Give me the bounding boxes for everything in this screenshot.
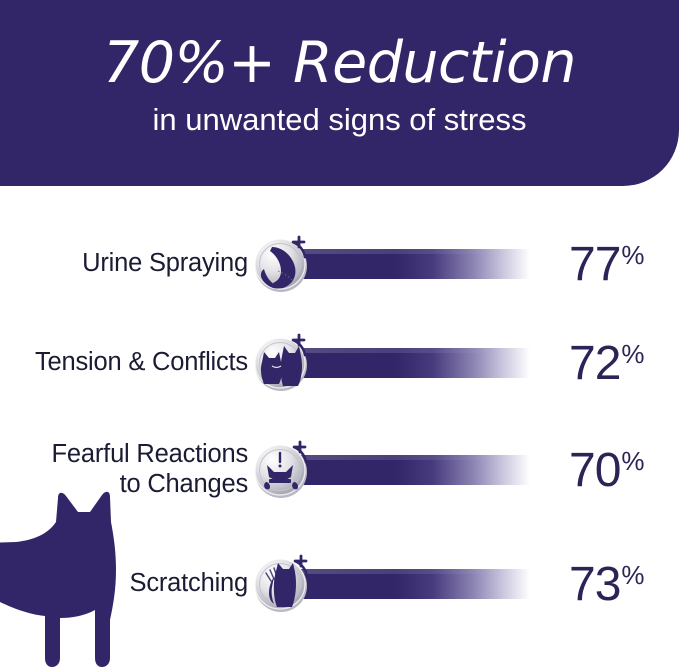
row-label-line1: Urine Spraying (82, 249, 248, 277)
chart-row-tension-conflicts: Tension & Conflicts (0, 331, 679, 395)
value-fearful-reactions: 70% (569, 443, 679, 498)
bar-track-fearful-reactions (298, 439, 565, 501)
header-text-block: 70%+ Reduction in unwanted signs of stre… (0, 34, 679, 138)
row-label-line1: Scratching (130, 569, 248, 597)
page-title: 70%+ Reduction (0, 34, 679, 94)
percent-symbol: % (621, 240, 644, 270)
row-label-fearful-reactions: Fearful Reactions to Changes (0, 440, 258, 499)
bar-track-scratching (298, 553, 565, 615)
fearful-cat-face-icon (252, 439, 314, 501)
row-label-urine-spraying: Urine Spraying (0, 249, 258, 279)
value-scratching: 73% (569, 557, 679, 612)
row-label-line1: Tension & Conflicts (35, 348, 248, 376)
percent-symbol: % (621, 339, 644, 369)
row-label-scratching: Scratching (0, 569, 258, 599)
bar-track-tension-conflicts (298, 332, 565, 394)
page-subtitle: in unwanted signs of stress (0, 102, 679, 138)
header-banner: 70%+ Reduction in unwanted signs of stre… (0, 0, 679, 186)
value-number: 77 (569, 238, 620, 291)
value-tension-conflicts: 72% (569, 336, 679, 391)
value-number: 72 (569, 337, 620, 390)
bar-track-urine-spraying (298, 233, 565, 295)
two-cats-tension-icon (252, 332, 314, 394)
percent-symbol: % (621, 446, 644, 476)
chart-row-urine-spraying: Urine Spraying (0, 232, 679, 296)
value-number: 70 (569, 444, 620, 497)
chart-row-scratching: Scratching (0, 552, 679, 616)
cat-scratching-icon (252, 553, 314, 615)
percent-symbol: % (621, 560, 644, 590)
bar-chart-rows: Urine Spraying (0, 186, 679, 667)
bar-fill-scratching (298, 569, 530, 599)
cat-urine-spraying-icon (252, 233, 314, 295)
value-urine-spraying: 77% (569, 237, 679, 292)
bar-fill-urine-spraying (298, 249, 530, 279)
infographic-root: 70%+ Reduction in unwanted signs of stre… (0, 0, 679, 667)
bar-fill-tension-conflicts (298, 348, 530, 378)
bar-fill-fearful-reactions (298, 455, 530, 485)
row-label-line2: to Changes (0, 470, 248, 500)
chart-row-fearful-reactions: Fearful Reactions to Changes (0, 438, 679, 502)
value-number: 73 (569, 558, 620, 611)
row-label-line1: Fearful Reactions (52, 440, 248, 468)
row-label-tension-conflicts: Tension & Conflicts (0, 348, 258, 378)
